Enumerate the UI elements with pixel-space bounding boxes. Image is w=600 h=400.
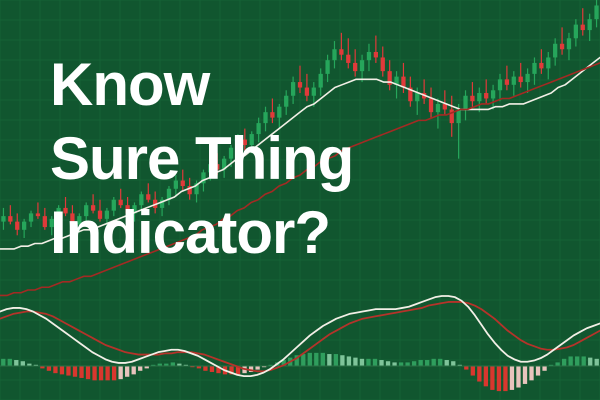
trading-chart: [0, 0, 600, 400]
promo-graphic: Know Sure Thing Indicator?: [0, 0, 600, 400]
chart-gridlines: [0, 0, 600, 400]
